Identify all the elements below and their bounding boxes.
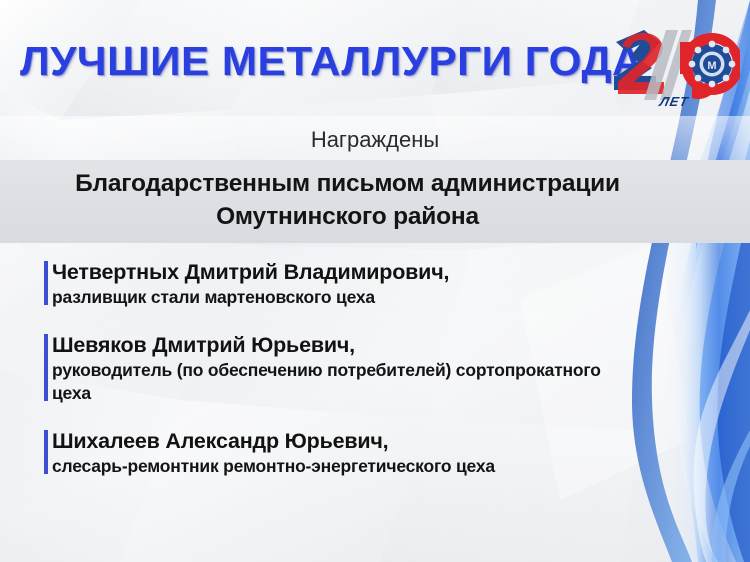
svg-text:М: М xyxy=(707,60,716,72)
list-item: Четвертных Дмитрий Владимирович, разливщ… xyxy=(0,258,640,309)
award-description: Благодарственным письмом администрации О… xyxy=(0,167,690,233)
page-title: ЛУЧШИЕ МЕТАЛЛУРГИ ГОДА xyxy=(20,36,643,86)
honoree-role: разливщик стали мартеновского цеха xyxy=(52,286,640,309)
honoree-role: руководитель (по обеспечению потребителе… xyxy=(52,359,640,405)
accent-bar xyxy=(44,261,48,305)
subtitle-awarded: Награждены xyxy=(0,126,750,154)
logo-years-label: ЛЕТ xyxy=(658,94,690,109)
honoree-name: Шихалеев Александр Юрьевич, xyxy=(52,427,640,455)
honoree-list: Четвертных Дмитрий Владимирович, разливщ… xyxy=(0,258,640,500)
header-band: ЛУЧШИЕ МЕТАЛЛУРГИ ГОДА xyxy=(0,0,750,116)
accent-bar xyxy=(44,430,48,474)
honoree-role: слесарь-ремонтник ремонтно-энергетическо… xyxy=(52,455,640,478)
slide-root: ЛУЧШИЕ МЕТАЛЛУРГИ ГОДА xyxy=(0,0,750,562)
list-item: Шихалеев Александр Юрьевич, слесарь-ремо… xyxy=(0,427,640,478)
anniversary-250-logo: М ЛЕТ xyxy=(608,24,740,110)
honoree-name: Шевяков Дмитрий Юрьевич, xyxy=(52,331,640,359)
accent-bar xyxy=(44,334,48,401)
list-item: Шевяков Дмитрий Юрьевич, руководитель (п… xyxy=(0,331,640,405)
honoree-name: Четвертных Дмитрий Владимирович, xyxy=(52,258,640,286)
gear-emblem-icon: М xyxy=(689,41,736,88)
